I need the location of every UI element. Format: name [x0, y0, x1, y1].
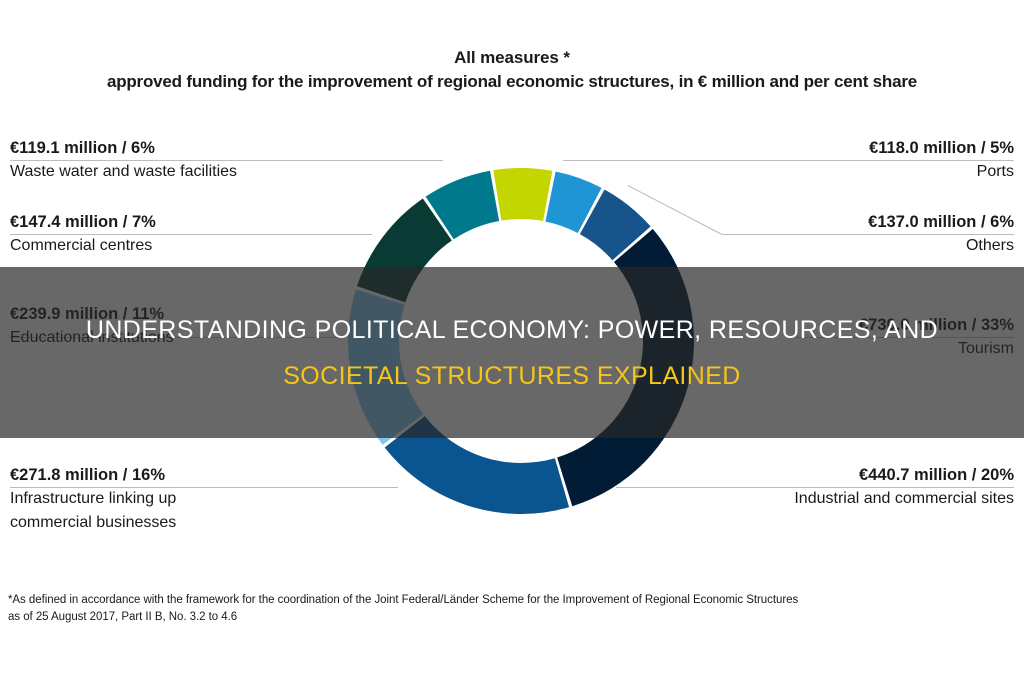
chart-title-block: All measures * approved funding for the … — [0, 46, 1024, 94]
footnote-line-2: as of 25 August 2017, Part II B, No. 3.2… — [8, 609, 1016, 626]
chart-title: All measures * — [0, 46, 1024, 70]
callout-category: Infrastructure linking up — [10, 487, 340, 511]
callout-amount: €271.8 million / 16% — [10, 464, 340, 487]
callout-amount: €147.4 million / 7% — [10, 211, 340, 234]
callout-category: Industrial and commercial sites — [684, 487, 1014, 511]
infographic-canvas: All measures * approved funding for the … — [0, 0, 1024, 680]
callout-commercial-centres: €147.4 million / 7% Commercial centres — [10, 211, 340, 258]
callout-others: €137.0 million / 6% Others — [684, 211, 1014, 258]
overlay-headline-line2: SOCIETAL STRUCTURES EXPLAINED — [283, 353, 741, 399]
overlay-headline-line1: UNDERSTANDING POLITICAL ECONOMY: POWER, … — [86, 307, 938, 353]
overlay-banner: UNDERSTANDING POLITICAL ECONOMY: POWER, … — [0, 267, 1024, 438]
callout-category: Ports — [684, 160, 1014, 184]
footnote-line-1: *As defined in accordance with the frame… — [8, 592, 1016, 609]
callout-amount: €119.1 million / 6% — [10, 137, 340, 160]
callout-industrial-sites: €440.7 million / 20% Industrial and comm… — [684, 464, 1014, 511]
callout-category: Others — [684, 234, 1014, 258]
callout-amount: €118.0 million / 5% — [684, 137, 1014, 160]
callout-amount: €137.0 million / 6% — [684, 211, 1014, 234]
chart-subtitle: approved funding for the improvement of … — [0, 70, 1024, 94]
callout-amount: €440.7 million / 20% — [684, 464, 1014, 487]
callout-category: Commercial centres — [10, 234, 340, 258]
callout-waste-water: €119.1 million / 6% Waste water and wast… — [10, 137, 340, 184]
callout-ports: €118.0 million / 5% Ports — [684, 137, 1014, 184]
donut-slice[interactable] — [493, 168, 552, 221]
callout-infrastructure: €271.8 million / 16% Infrastructure link… — [10, 464, 340, 535]
callout-category: Waste water and waste facilities — [10, 160, 340, 184]
footnote: *As defined in accordance with the frame… — [8, 592, 1016, 626]
callout-category-line2: commercial businesses — [10, 511, 340, 535]
